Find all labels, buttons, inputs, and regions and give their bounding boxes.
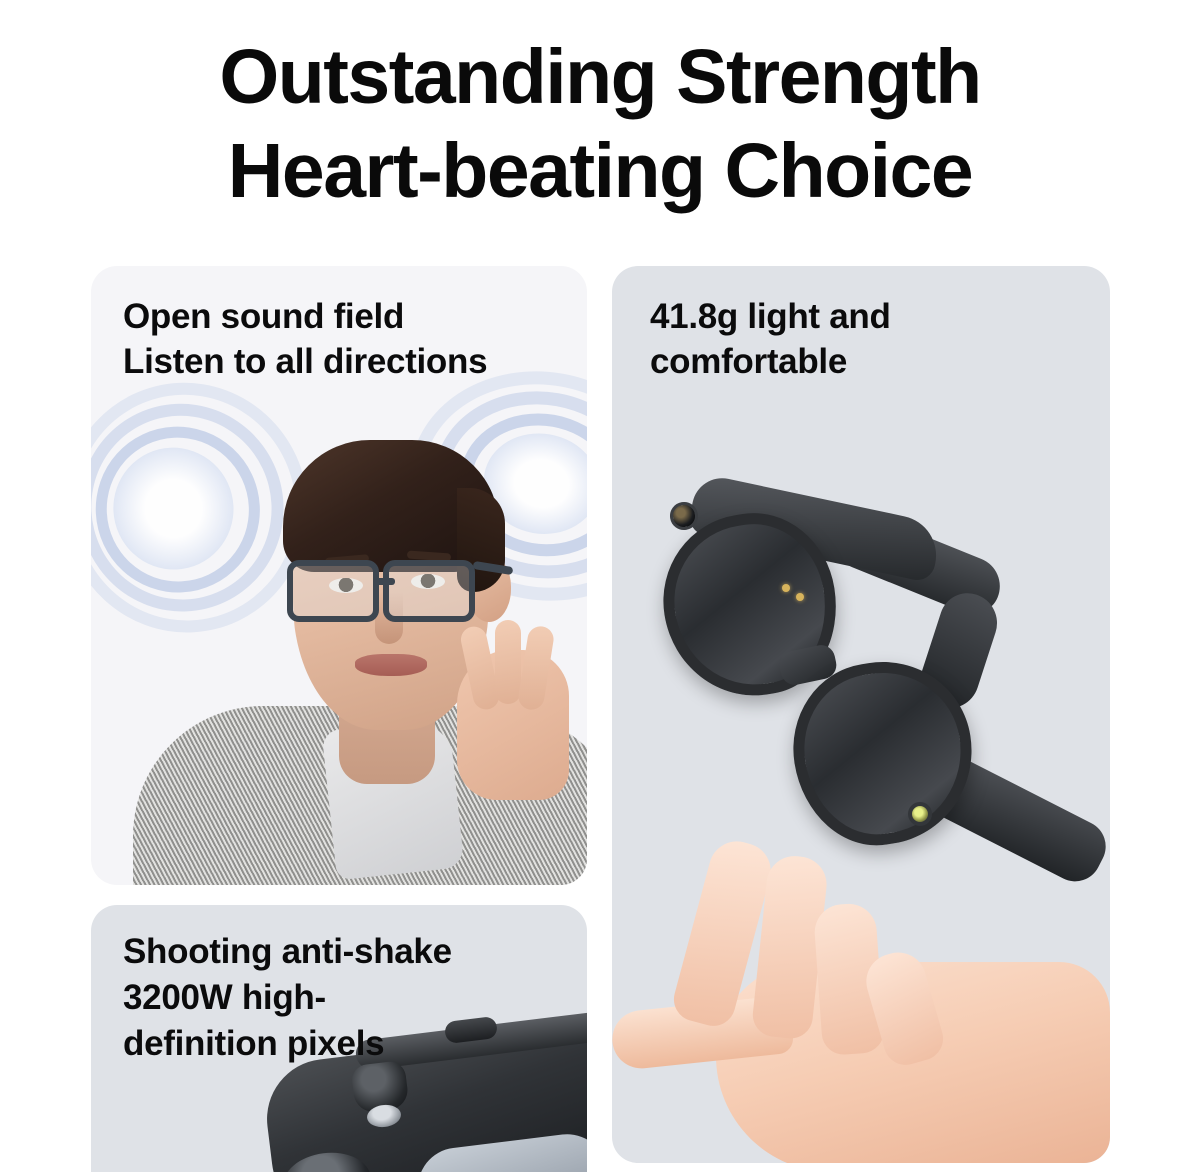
model-photo bbox=[179, 406, 579, 885]
finger bbox=[495, 620, 521, 704]
feature-card-grid: Open sound field Listen to all direction… bbox=[0, 266, 1200, 1172]
feature-card-lightweight[interactable]: 41.8g light and comfortable bbox=[612, 266, 1110, 1163]
led-indicator-icon bbox=[796, 593, 804, 601]
feature-card-anti-shake[interactable]: Shooting anti-shake 3200W high- definiti… bbox=[91, 905, 587, 1172]
card-title-open-sound-field: Open sound field Listen to all direction… bbox=[123, 294, 587, 384]
lips bbox=[355, 654, 427, 676]
glasses-temple bbox=[473, 561, 514, 575]
feature-card-open-sound-field[interactable]: Open sound field Listen to all direction… bbox=[91, 266, 587, 885]
page-title: Outstanding Strength Heart-beating Choic… bbox=[0, 0, 1200, 218]
hand-at-ear bbox=[447, 620, 579, 820]
glasses-lens-left bbox=[287, 560, 379, 622]
glasses-bridge bbox=[375, 578, 395, 585]
headline-line-1: Outstanding Strength bbox=[0, 30, 1200, 124]
card-title-lightweight: 41.8g light and comfortable bbox=[650, 294, 1110, 384]
smart-sunglasses-product-photo bbox=[630, 484, 1100, 904]
card-title-anti-shake: Shooting anti-shake 3200W high- definiti… bbox=[123, 929, 587, 1067]
hair bbox=[283, 440, 499, 572]
worn-smart-glasses bbox=[287, 556, 501, 630]
led-indicator-icon bbox=[782, 584, 790, 592]
headline-line-2: Heart-beating Choice bbox=[0, 124, 1200, 218]
open-palm-photo bbox=[612, 866, 1110, 1163]
hinge-indicator-icon bbox=[908, 802, 932, 826]
glasses-lens-right bbox=[383, 560, 475, 622]
